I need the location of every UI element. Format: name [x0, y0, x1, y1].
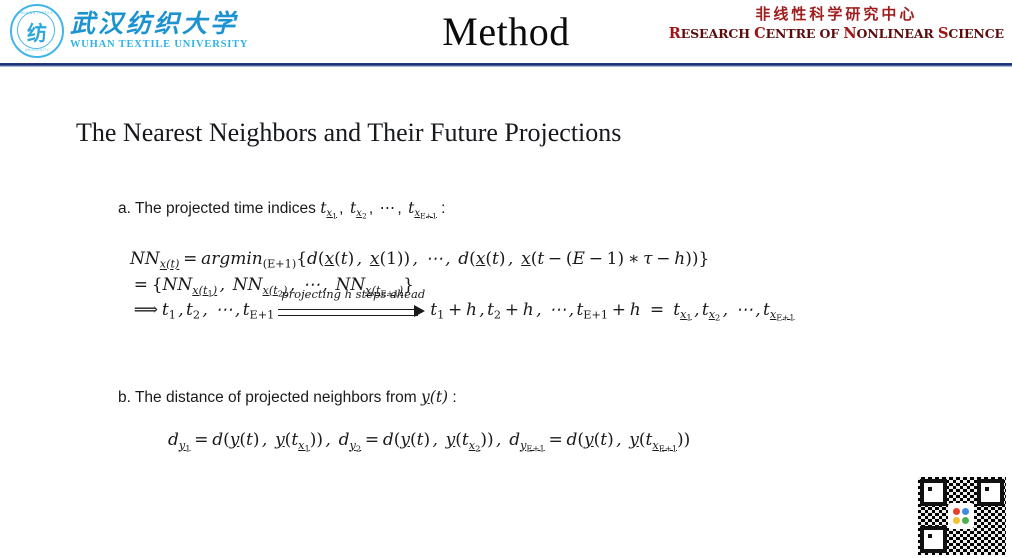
- projection-arrow: projecting h steps ahead: [278, 302, 428, 319]
- centre-name-cn: 非线性科学研究中心: [669, 6, 1004, 23]
- qr-code[interactable]: [918, 477, 1006, 555]
- equation-line-1: NNx(t)=argmin(E+1){d(x(t), x(1)), ⋯, d(x…: [130, 246, 794, 272]
- qr-finder-bottom-left: [920, 526, 947, 553]
- qr-center-logo-icon: [948, 503, 974, 529]
- equation-block-b: dy1=d(y(t), y(tx1)), dy2=d(y(t), y(tx2))…: [168, 430, 690, 450]
- item-b-colon: :: [452, 389, 456, 406]
- equation-line-3: ⟹t1,t2, ⋯,tE+1projecting h steps aheadt1…: [130, 299, 794, 322]
- research-centre-branding: 非线性科学研究中心 RESEARCH CENTRE OF NONLINEAR S…: [669, 6, 1004, 43]
- section-heading: The Nearest Neighbors and Their Future P…: [76, 118, 621, 148]
- item-a-text: a. The projected time indices: [118, 200, 320, 217]
- equation-block-a: NNx(t)=argmin(E+1){d(x(t), x(1)), ⋯, d(x…: [130, 246, 794, 322]
- centre-name-en: RESEARCH CENTRE OF NONLINEAR SCIENCE: [669, 26, 1004, 43]
- qr-finder-top-left: [920, 479, 947, 506]
- arrow-head: [414, 305, 425, 317]
- item-b-label: b. The distance of projected neighbors f…: [118, 388, 457, 407]
- header-divider: [0, 63, 1012, 67]
- slide-header: WUHAN TEXTILE 纺 UNIVERSITY 武汉纺织大学 WUHAN …: [0, 0, 1012, 66]
- item-a-label: a. The projected time indices tx1, tx2, …: [118, 199, 445, 218]
- qr-finder-top-right: [977, 479, 1004, 506]
- item-a-colon: :: [441, 200, 445, 217]
- arrow-label: projecting h steps ahead: [278, 287, 428, 303]
- equation-line-2: ={NNx(t1), NNx(t2), ⋯, NNx(tE+1)}: [130, 272, 794, 298]
- arrow-shaft: [278, 309, 418, 316]
- item-b-text: b. The distance of projected neighbors f…: [118, 389, 421, 406]
